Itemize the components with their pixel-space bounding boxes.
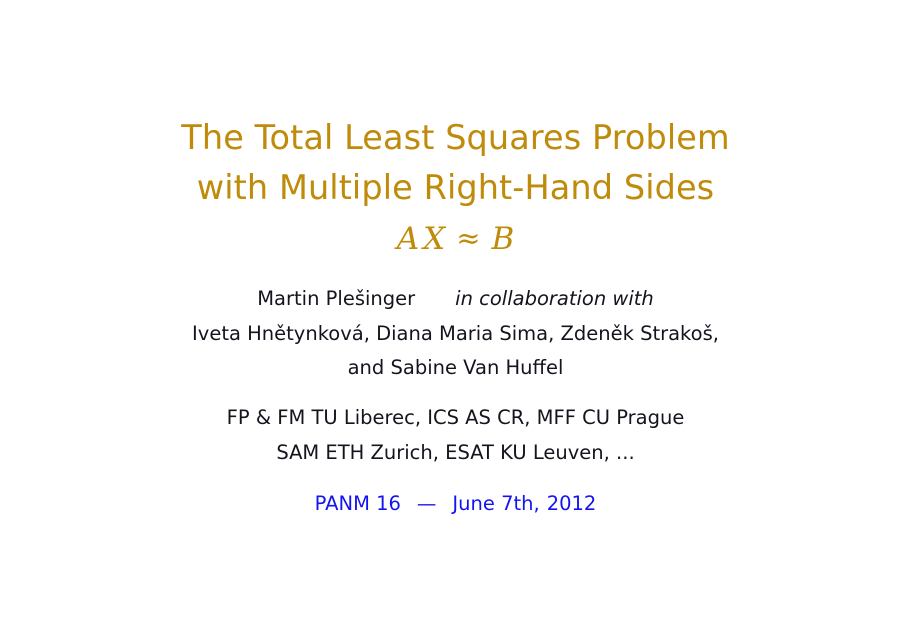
affiliation-line-1: FP & FM TU Liberec, ICS AS CR, MFF CU Pr… [0,401,911,436]
page-title-line-1: The Total Least Squares Problem [0,113,911,163]
formula-matrix-x: X [423,221,445,257]
conference-separator-dash: — [417,489,437,519]
author-presenter-line: Martin Plešingerin collaboration with [0,282,911,317]
conference-line: PANM 16—June 7th,2012 [0,489,911,519]
affiliation-block: FP & FM TU Liberec, ICS AS CR, MFF CU Pr… [0,401,911,470]
title-formula: AX≈B [0,213,911,265]
affiliation-line-2: SAM ETH Zurich, ESAT KU Leuven, ... [0,436,911,471]
page-title-line-2: with Multiple Right-Hand Sides [0,163,911,213]
formula-matrix-b: B [492,221,515,257]
conference-block: PANM 16—June 7th,2012 [0,489,911,519]
presenter-name: Martin Plešinger [257,287,415,310]
conference-name: PANM 16 [315,492,401,515]
presentation-title-slide: The Total Least Squares Problem with Mul… [0,0,911,643]
conference-date: June 7th, [452,492,539,515]
authors-block: Martin Plešingerin collaboration with Iv… [0,282,911,386]
author-coauthors-line-2: and Sabine Van Huffel [0,351,911,386]
conference-year: 2012 [547,492,597,515]
author-coauthors-line-1: Iveta Hnětynková, Diana Maria Sima, Zden… [0,317,911,352]
formula-approx-relation: ≈ [456,221,480,255]
formula-matrix-a: A [397,221,419,257]
collaboration-label: in collaboration with [455,287,654,310]
title-block: The Total Least Squares Problem with Mul… [0,113,911,265]
